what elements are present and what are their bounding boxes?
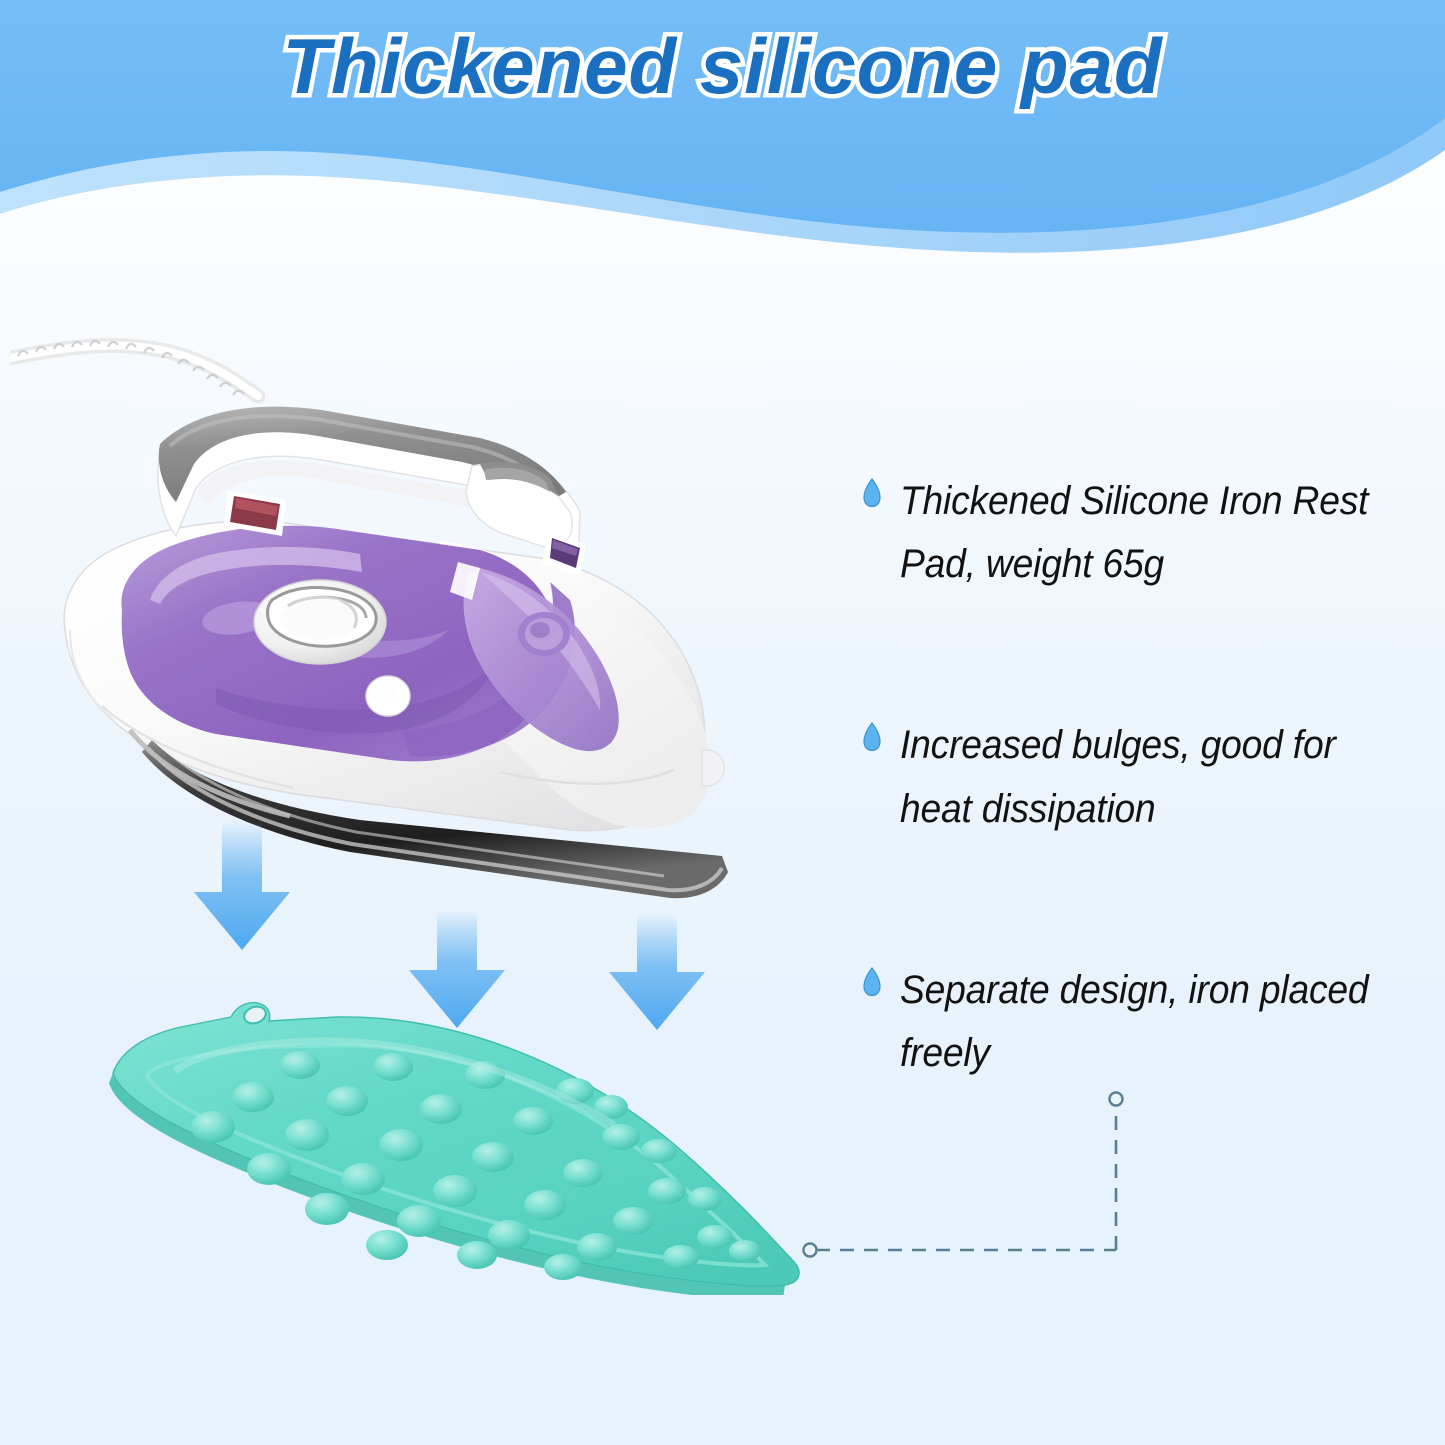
callout-endpoint-top [1110,1093,1123,1106]
list-item: Thickened Silicone Iron Rest Pad, weight… [862,470,1422,596]
iron-drop-bullet-icon [862,722,882,752]
list-item: Separate design, iron placed freely [862,959,1422,1085]
iron-drop-bullet-icon [862,478,882,508]
steam-iron-image [10,300,810,900]
arrow-down-1 [194,820,290,950]
feature-text: Separate design, iron placed freely [900,959,1385,1085]
iron-steam-dial [254,580,386,664]
power-cord-icon [10,341,258,396]
page-title: Thickened silicone pad [0,14,1445,119]
iron-nose-nub [702,750,724,787]
page-title-text: Thickened silicone pad [282,21,1162,112]
infographic-page: Thickened silicone pad [0,0,1445,1445]
dimension-callout [780,1075,1200,1305]
feature-list: Thickened Silicone Iron Rest Pad, weight… [862,470,1422,1085]
silicone-pad-image [55,955,865,1295]
list-item: Increased bulges, good for heat dissipat… [862,714,1422,840]
feature-text: Increased bulges, good for heat dissipat… [900,714,1385,840]
feature-text: Thickened Silicone Iron Rest Pad, weight… [900,470,1385,596]
iron-drop-bullet-icon [862,967,882,997]
iron-spray-button [366,676,410,716]
header-banner: Thickened silicone pad [0,0,1445,260]
callout-endpoint-left [804,1244,817,1257]
